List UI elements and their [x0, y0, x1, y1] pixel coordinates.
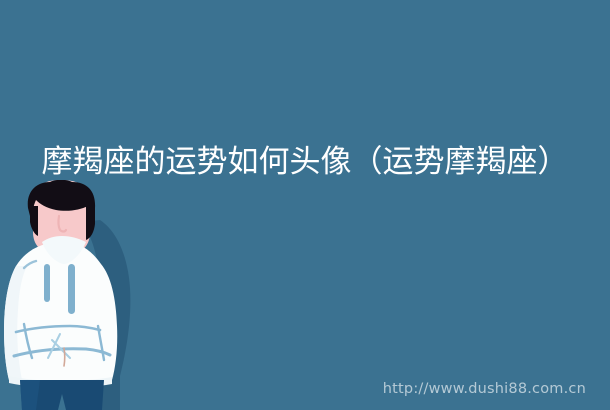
hand-hint [64, 348, 65, 366]
drawstring-left [44, 264, 50, 302]
sideburn-left [30, 206, 38, 236]
watermark-url: http://www.dushi88.com.cn [383, 380, 586, 398]
drawstring-right [68, 264, 75, 314]
screenshot-canvas: 摩羯座的运势如何头像（运势摩羯座） http://www.dushi88.com… [0, 0, 610, 410]
person-illustration [0, 180, 150, 410]
page-title: 摩羯座的运势如何头像（运势摩羯座） [0, 142, 610, 182]
